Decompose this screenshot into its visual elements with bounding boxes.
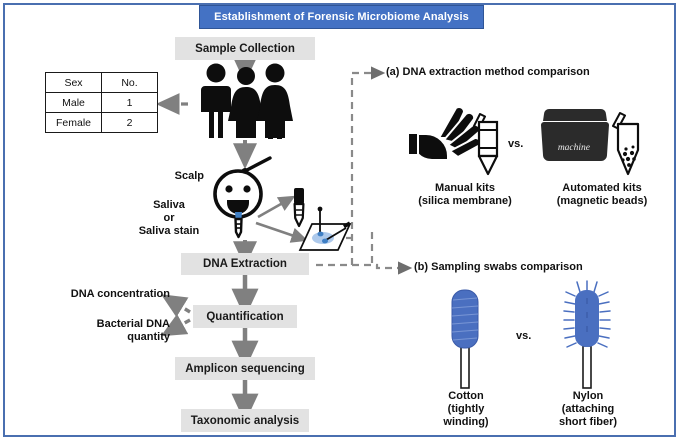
- panel-b-right-line1: Nylon: [528, 390, 648, 403]
- label-bacterial-line2: quantity: [52, 331, 170, 344]
- label-saliva-line2: or: [130, 212, 208, 225]
- table-header-no: No.: [102, 73, 158, 93]
- panel-b-right-line2: (attaching: [528, 403, 648, 416]
- panel-b-vs-label: vs.: [516, 330, 531, 342]
- box-quantification-label: Quantification: [206, 311, 283, 323]
- panel-a-right-label: Automated kits (magnetic beads): [532, 182, 672, 208]
- box-amplicon-sequencing-label: Amplicon sequencing: [185, 363, 305, 375]
- panel-a-right-line1: Automated kits: [532, 182, 672, 195]
- spin-column-tube-icon: [468, 110, 508, 180]
- label-saliva: Saliva or Saliva stain: [130, 199, 208, 238]
- box-quantification: Quantification: [193, 305, 297, 328]
- panel-a-right-line2: (magnetic beads): [532, 195, 672, 208]
- machine-label: machine: [558, 143, 590, 153]
- panel-b-heading: (b) Sampling swabs comparison: [414, 261, 685, 274]
- people-group-icon: [196, 62, 306, 142]
- magnetic-beads-tube-icon: [606, 110, 650, 182]
- head-sampling-icon: [206, 156, 296, 246]
- panel-a-left-line2: (silica membrane): [400, 195, 530, 208]
- box-taxonomic-analysis-label: Taxonomic analysis: [191, 415, 299, 427]
- panel-b-left-line1: Cotton: [406, 390, 526, 403]
- table-header-row: Sex No.: [46, 73, 158, 93]
- label-scalp: Scalp: [150, 170, 204, 183]
- label-saliva-line1: Saliva: [130, 199, 208, 212]
- panel-b-left-line2: (tightly: [406, 403, 526, 416]
- table-row: Male 1: [46, 93, 158, 113]
- table-header-sex: Sex: [46, 73, 102, 93]
- box-taxonomic-analysis: Taxonomic analysis: [181, 409, 309, 432]
- box-sample-collection-label: Sample Collection: [195, 43, 295, 55]
- panel-a-heading: (a) DNA extraction method comparison: [386, 66, 676, 79]
- subjects-table: Sex No. Male 1 Female 2: [45, 72, 158, 133]
- nylon-swab-icon: [562, 288, 614, 388]
- panel-b-right-label: Nylon (attaching short fiber): [528, 390, 648, 429]
- label-dna-concentration: DNA concentration: [42, 288, 170, 301]
- box-sample-collection: Sample Collection: [175, 37, 315, 60]
- box-dna-extraction-label: DNA Extraction: [203, 258, 287, 270]
- box-dna-extraction: DNA Extraction: [181, 253, 309, 275]
- label-bacterial-line1: Bacterial DNA: [52, 318, 170, 331]
- panel-a-left-label: Manual kits (silica membrane): [400, 182, 530, 208]
- saliva-stain-surface-icon: [298, 206, 362, 262]
- box-amplicon-sequencing: Amplicon sequencing: [175, 357, 315, 380]
- table-cell-sex-male: Male: [46, 93, 102, 113]
- label-bacterial-dna-quantity: Bacterial DNA quantity: [52, 318, 170, 344]
- panel-b-left-line3: winding): [406, 416, 526, 429]
- table-cell-sex-female: Female: [46, 113, 102, 133]
- panel-b-right-line3: short fiber): [528, 416, 648, 429]
- label-saliva-line3: Saliva stain: [130, 225, 208, 238]
- table-cell-no-male: 1: [102, 93, 158, 113]
- panel-a-vs-label: vs.: [508, 138, 523, 150]
- table-cell-no-female: 2: [102, 113, 158, 133]
- panel-a-left-line1: Manual kits: [400, 182, 530, 195]
- table-row: Female 2: [46, 113, 158, 133]
- cotton-swab-icon: [440, 288, 492, 388]
- panel-b-left-label: Cotton (tightly winding): [406, 390, 526, 429]
